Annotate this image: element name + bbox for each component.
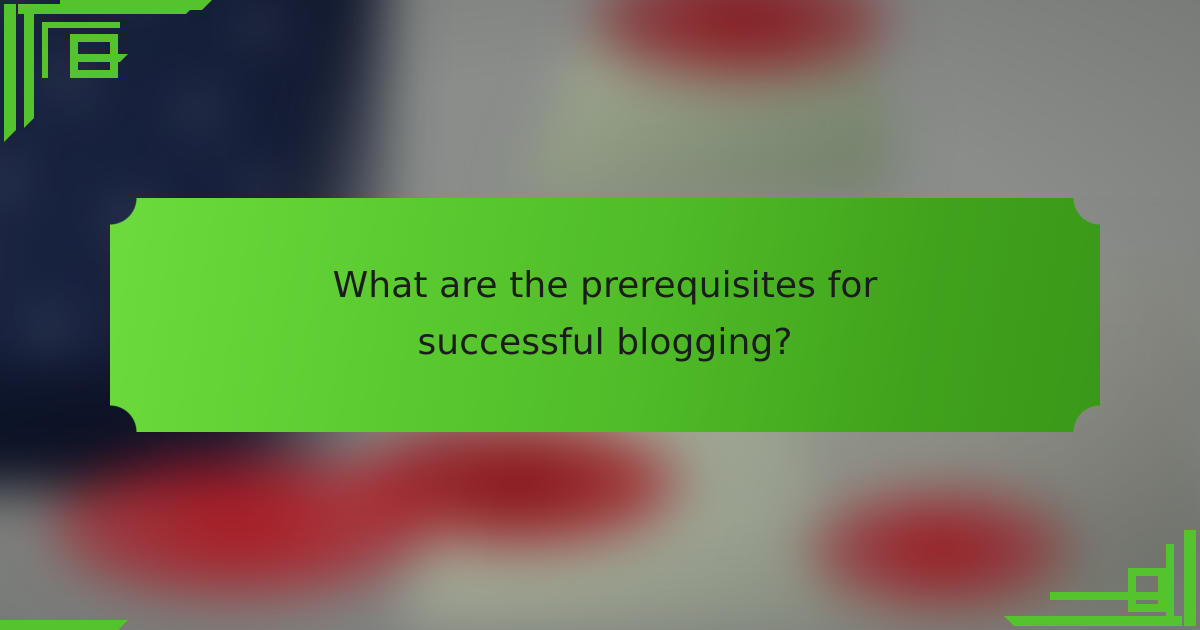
poster-canvas: What are the prerequisites for successfu…: [0, 0, 1200, 630]
edge-rule-top: [0, 0, 230, 14]
page-title: What are the prerequisites for successfu…: [225, 258, 985, 372]
edge-rule-bottom-left: [0, 618, 140, 630]
corner-bracket-top-left-icon: [0, 0, 210, 200]
headline-card: What are the prerequisites for successfu…: [110, 198, 1100, 432]
corner-bracket-bottom-right-icon: [990, 510, 1200, 630]
